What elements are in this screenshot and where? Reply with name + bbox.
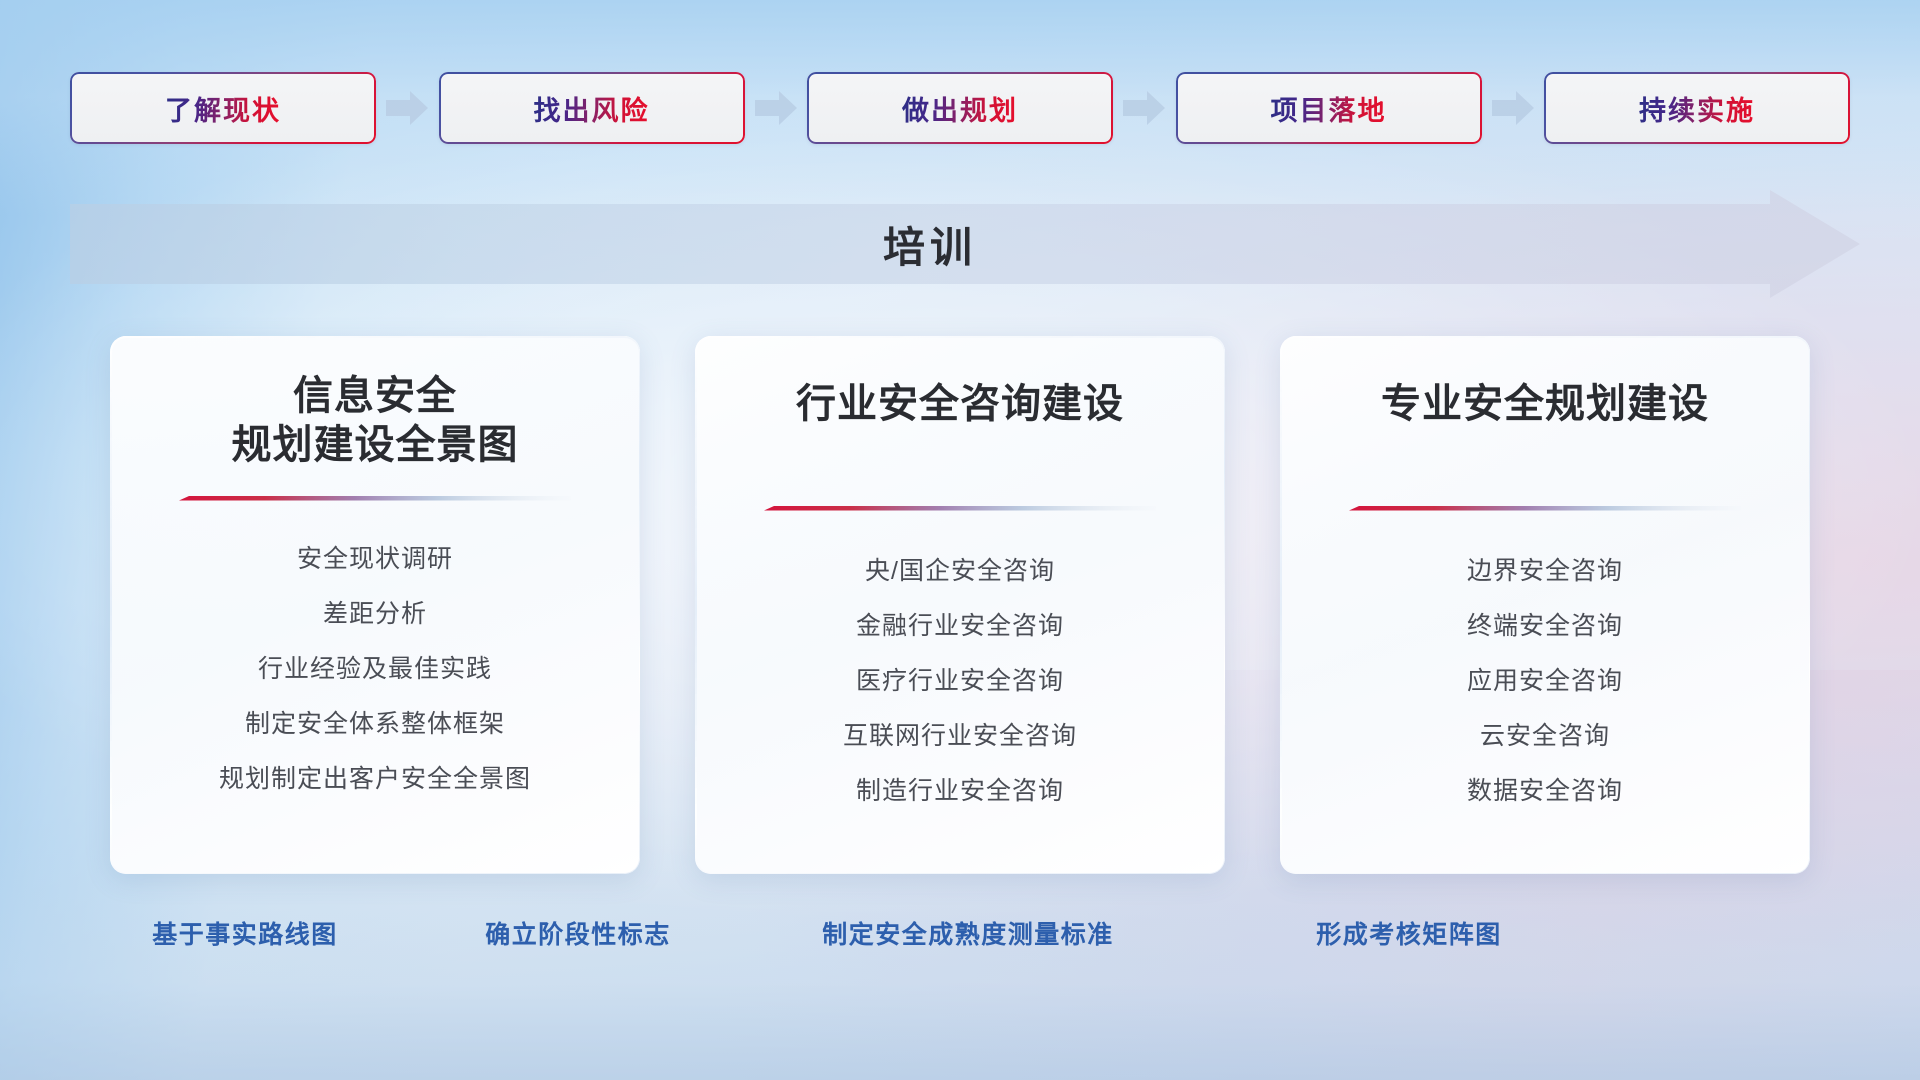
step-label-3: 做出规划 [902, 89, 1018, 128]
list-item: 医疗行业安全咨询 [719, 669, 1201, 694]
list-item: 差距分析 [134, 602, 616, 627]
list-item: 互联网行业安全咨询 [719, 724, 1201, 749]
card-info-security-blueprint[interactable]: 信息安全 规划建设全景图 [110, 336, 640, 874]
list-item: 应用安全咨询 [1304, 669, 1786, 694]
card-title-line-1: 行业安全咨询建设 [721, 380, 1199, 429]
footer-label-4: 形成考核矩阵图 [1316, 915, 1502, 951]
list-item: 数据安全咨询 [1304, 779, 1786, 804]
arrow-right-icon [1123, 91, 1165, 125]
step-label-5: 持续实施 [1639, 89, 1755, 128]
card-industry-security-consulting[interactable]: 行业安全咨询建设 [695, 336, 1225, 874]
process-step-row: 了解现状 找出风险 做出规划 项目落地 [70, 72, 1850, 144]
footer-label-1: 基于事实路线图 [152, 915, 338, 951]
list-item: 安全现状调研 [134, 547, 616, 572]
card-title-line-1: 专业安全规划建设 [1306, 380, 1784, 429]
card-row: 信息安全 规划建设全景图 [110, 336, 1810, 876]
banner-title: 培训 [70, 190, 1860, 298]
list-item: 制定安全体系整体框架 [134, 712, 616, 737]
card-title: 行业安全咨询建设 [695, 380, 1225, 429]
card-item-list: 安全现状调研 差距分析 行业经验及最佳实践 制定安全体系整体框架 规划制定出客户… [110, 547, 640, 792]
card-divider [179, 494, 571, 505]
arrow-right-icon [755, 91, 797, 125]
card-item-list: 边界安全咨询 终端安全咨询 应用安全咨询 云安全咨询 数据安全咨询 [1280, 559, 1810, 804]
card-title-line-2: 规划建设全景图 [136, 421, 614, 470]
card-title: 信息安全 规划建设全景图 [110, 372, 640, 470]
step-label-4: 项目落地 [1271, 89, 1387, 128]
footer-label-2: 确立阶段性标志 [485, 915, 671, 951]
arrow-right-icon [386, 91, 428, 125]
card-divider [764, 504, 1156, 515]
card-title-line-1: 信息安全 [136, 372, 614, 421]
footer-label-3: 制定安全成熟度测量标准 [822, 915, 1114, 951]
step-button-4[interactable]: 项目落地 [1176, 72, 1482, 144]
card-item-list: 央/国企安全咨询 金融行业安全咨询 医疗行业安全咨询 互联网行业安全咨询 制造行… [695, 559, 1225, 804]
list-item: 规划制定出客户安全全景图 [134, 767, 616, 792]
step-button-5[interactable]: 持续实施 [1544, 72, 1850, 144]
list-item: 央/国企安全咨询 [719, 559, 1201, 584]
list-item: 行业经验及最佳实践 [134, 657, 616, 682]
arrow-right-icon [1492, 91, 1534, 125]
step-label-2: 找出风险 [534, 89, 650, 128]
list-item: 制造行业安全咨询 [719, 779, 1201, 804]
step-label-1: 了解现状 [165, 89, 281, 128]
footer-label-row: 基于事实路线图 确立阶段性标志 制定安全成熟度测量标准 形成考核矩阵图 [0, 915, 1920, 961]
step-button-2[interactable]: 找出风险 [439, 72, 745, 144]
training-banner: 培训 [70, 190, 1860, 298]
card-professional-security-planning[interactable]: 专业安全规划建设 [1280, 336, 1810, 874]
card-divider [1349, 504, 1741, 515]
step-button-1[interactable]: 了解现状 [70, 72, 376, 144]
list-item: 金融行业安全咨询 [719, 614, 1201, 639]
step-button-3[interactable]: 做出规划 [807, 72, 1113, 144]
card-title: 专业安全规划建设 [1280, 380, 1810, 429]
list-item: 终端安全咨询 [1304, 614, 1786, 639]
list-item: 边界安全咨询 [1304, 559, 1786, 584]
list-item: 云安全咨询 [1304, 724, 1786, 749]
